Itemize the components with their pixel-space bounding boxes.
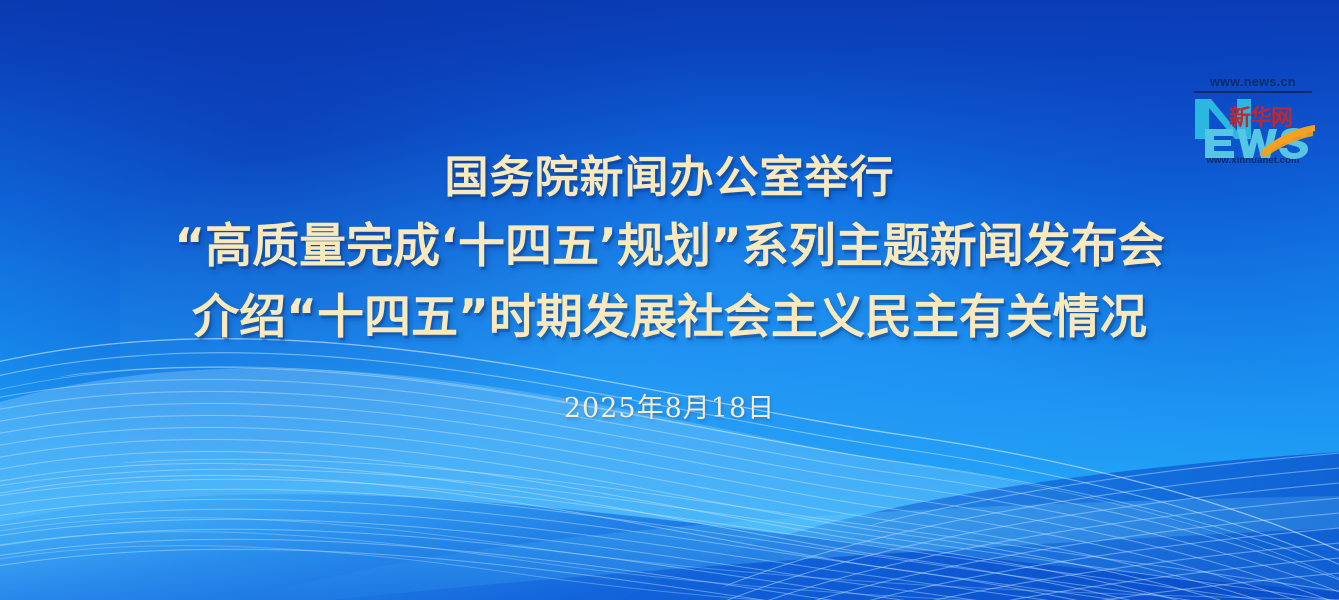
press-conference-banner: www.news.cn 新华网: [0, 0, 1339, 600]
event-date: 2025年8月18日: [24, 386, 1315, 425]
logo-top-url: www.news.cn: [1194, 76, 1312, 93]
svg-text:新华网: 新华网: [1229, 105, 1292, 131]
logo-wordmark: 新华网: [1189, 95, 1317, 159]
topic-line: 介绍“十四五”时期发展社会主义民主有关情况: [24, 287, 1315, 348]
logo-brand-cn-shape: 新华网: [1229, 105, 1292, 131]
headline-block: 国务院新闻办公室举行 “高质量完成‘十四五’规划”系列主题新闻发布会 介绍“十四…: [0, 152, 1339, 425]
series-line: “高质量完成‘十四五’规划”系列主题新闻发布会: [24, 216, 1315, 277]
organizer-line: 国务院新闻办公室举行: [24, 152, 1315, 204]
